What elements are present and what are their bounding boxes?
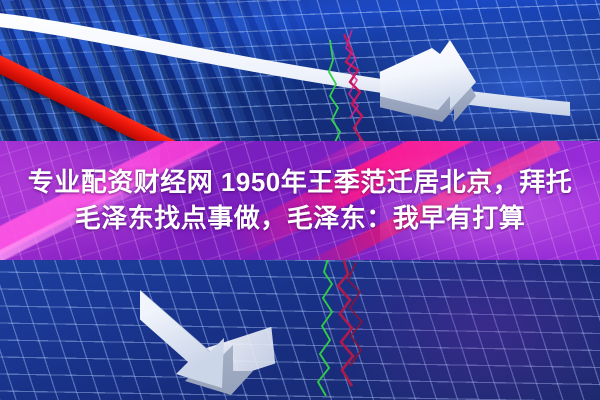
headline-text-block: 专业配资财经网 1950年王季范迁居北京，拜托 毛泽东找点事做，毛泽东：我早有打… (0, 141, 600, 260)
green-zigzag-trend-line (329, 40, 341, 156)
stock-finance-banner: 专业配资财经网 1950年王季范迁居北京，拜托 毛泽东找点事做，毛泽东：我早有打… (0, 0, 600, 400)
headline-line-1: 专业配资财经网 1950年王季范迁居北京，拜托 (28, 167, 573, 199)
headline-line-2: 毛泽东找点事做，毛泽东：我早有打算 (75, 203, 526, 235)
down-right-arrow-icon (140, 252, 410, 400)
red-zigzag-trend-line (344, 34, 363, 142)
